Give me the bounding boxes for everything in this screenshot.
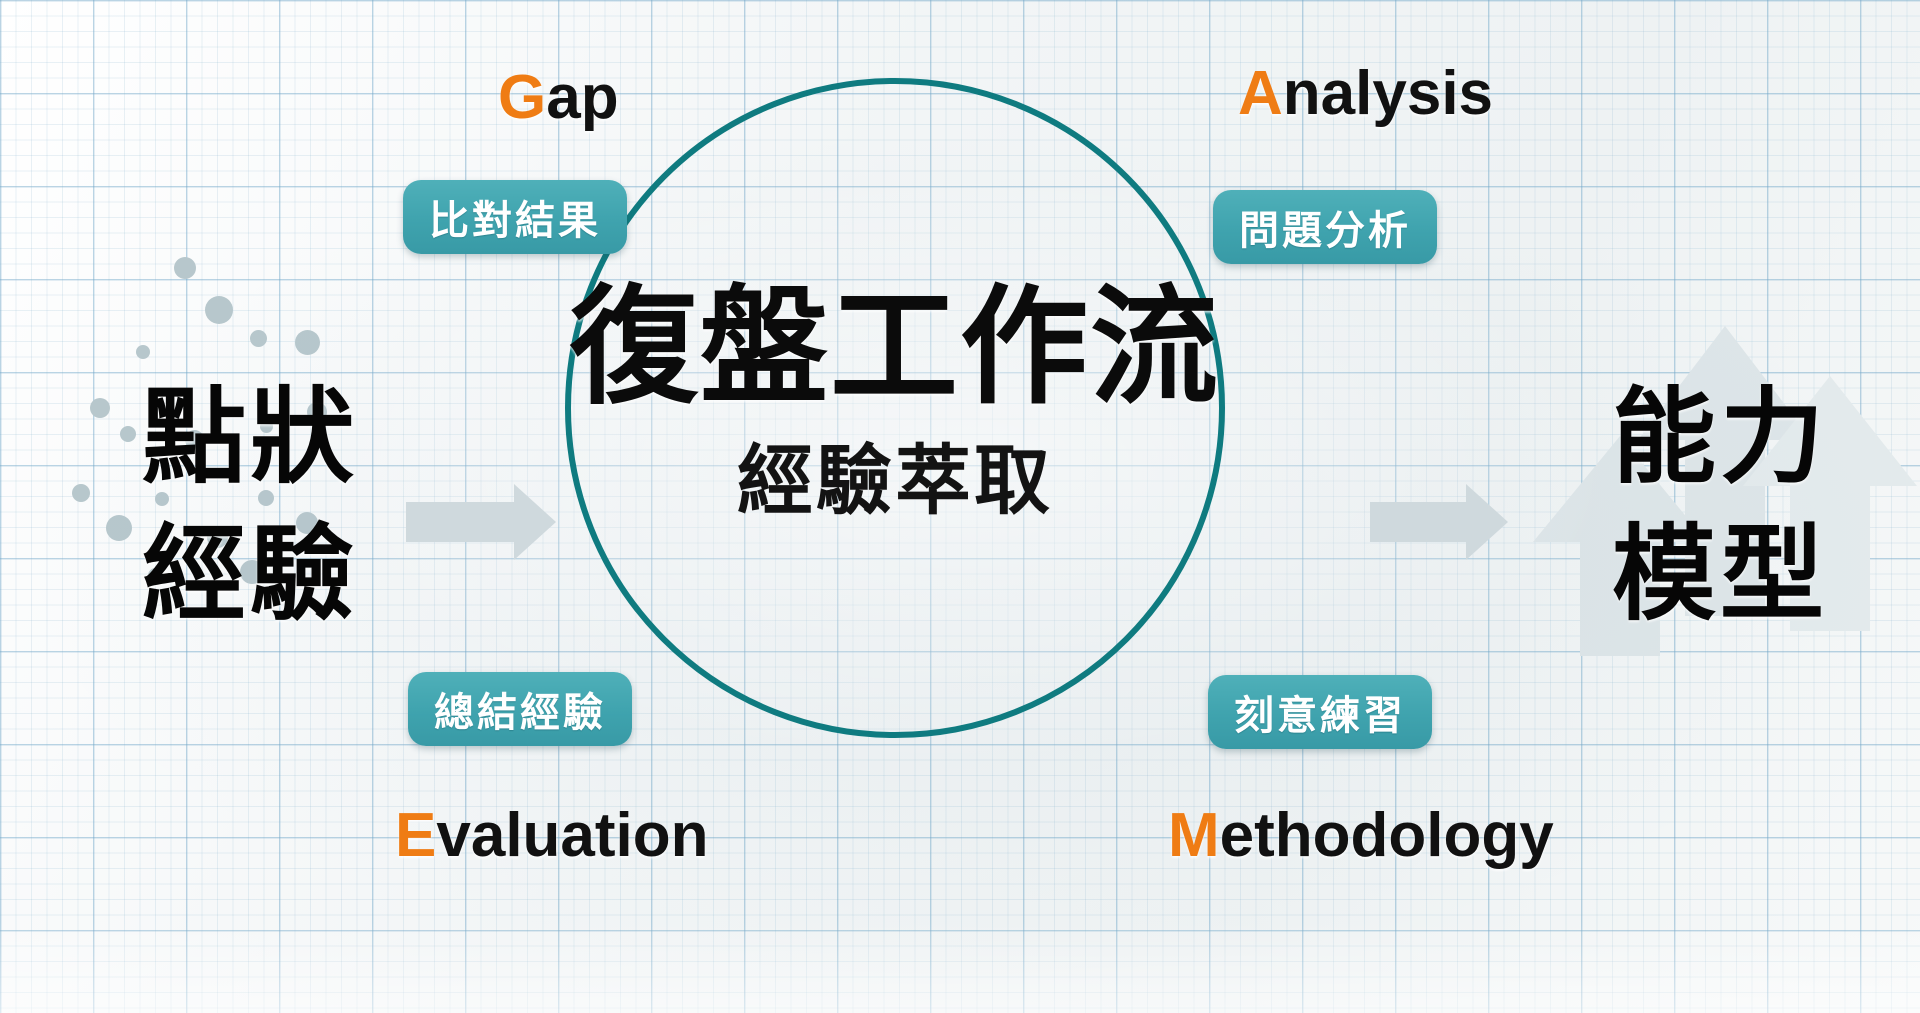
page-title: 復盤工作流 — [430, 283, 1360, 414]
badge-analysis[interactable]: 問題分析 — [1213, 190, 1437, 264]
right-stage-label: 能力 模型 — [1560, 370, 1880, 645]
label-evaluation-rest: valuation — [436, 801, 708, 870]
label-analysis-rest: nalysis — [1283, 59, 1493, 128]
bottom-gradient-band — [0, 921, 1920, 1013]
right-stage-label-line2: 模型 — [1560, 507, 1880, 644]
badge-gap[interactable]: 比對結果 — [403, 180, 627, 254]
badge-methodology[interactable]: 刻意練習 — [1208, 675, 1432, 749]
label-gap-initial: G — [498, 63, 546, 132]
left-stage-label-line1: 點狀 — [100, 370, 400, 507]
left-stage-label-line2: 經驗 — [100, 507, 400, 644]
label-methodology-rest: ethodology — [1220, 801, 1554, 870]
badge-evaluation[interactable]: 總結經驗 — [408, 672, 632, 746]
left-stage-label: 點狀 經驗 — [100, 370, 400, 645]
label-evaluation-initial: E — [395, 801, 436, 870]
diagram-canvas: 復盤工作流 經驗萃取 點狀 經驗 能力 模型 比對結果 問題分析 總結經驗 刻意… — [0, 0, 1920, 1013]
label-methodology-initial: M — [1168, 801, 1220, 870]
right-stage-label-line1: 能力 — [1560, 370, 1880, 507]
label-gap-rest: ap — [546, 63, 618, 132]
label-analysis: Analysis — [1238, 58, 1493, 129]
label-analysis-initial: A — [1238, 59, 1283, 128]
label-methodology: Methodology — [1168, 800, 1554, 871]
label-evaluation: Evaluation — [395, 800, 709, 871]
label-gap: Gap — [498, 62, 619, 133]
page-subtitle: 經驗萃取 — [430, 440, 1360, 524]
